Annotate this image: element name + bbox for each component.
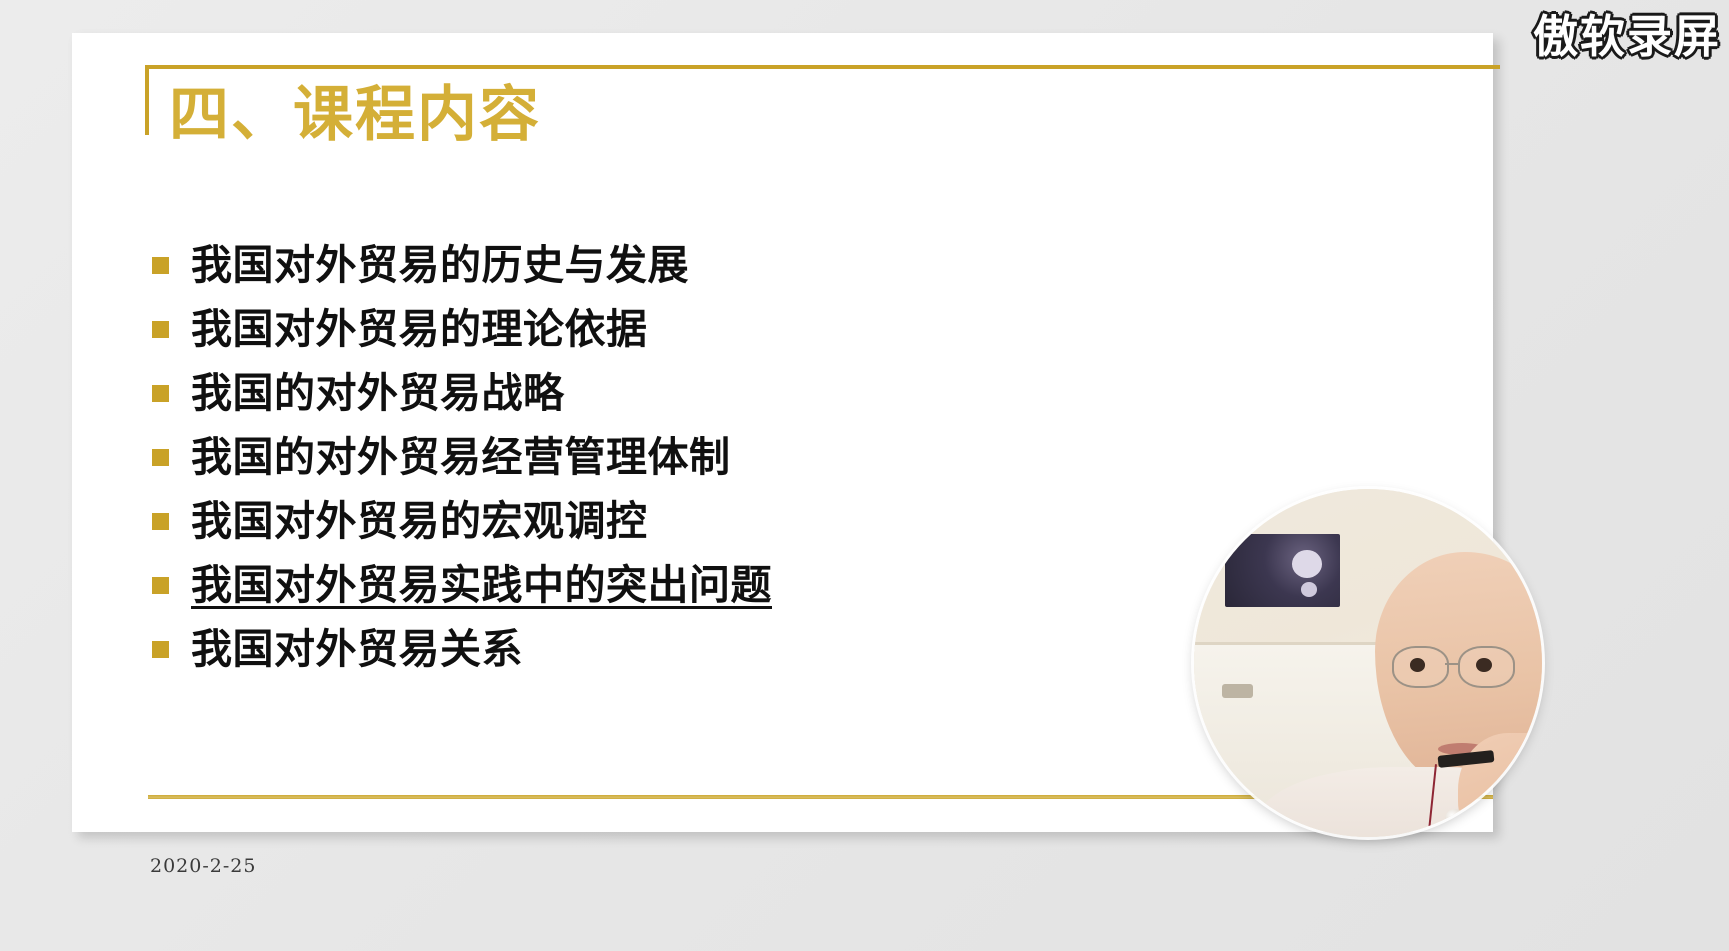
screen-recording-canvas: 四、课程内容 我国对外贸易的历史与发展 我国对外贸易的理论依据 我国的对外贸易战…	[0, 0, 1729, 951]
list-item: 我国的对外贸易战略	[152, 361, 1352, 425]
presenter-eye-left	[1410, 658, 1426, 672]
list-item: 我国的对外贸易经营管理体制	[152, 425, 1352, 489]
title-bracket-top-rule	[145, 65, 1500, 69]
bullet-square-icon	[152, 641, 169, 658]
slide-date: 2020-2-25	[150, 855, 256, 877]
bullet-square-icon	[152, 385, 169, 402]
bullet-square-icon	[152, 513, 169, 530]
list-item: 我国对外贸易的历史与发展	[152, 233, 1352, 297]
presenter-glasses-bridge	[1445, 663, 1459, 665]
list-item-label: 我国对外贸易关系	[191, 629, 523, 670]
slide-title-block: 四、课程内容	[145, 65, 705, 185]
list-item-label: 我国的对外贸易经营管理体制	[191, 437, 731, 478]
bullet-list: 我国对外贸易的历史与发展 我国对外贸易的理论依据 我国的对外贸易战略 我国的对外…	[152, 233, 1352, 681]
list-item-label: 我国的对外贸易战略	[191, 373, 565, 414]
list-item-label: 我国对外贸易实践中的突出问题	[191, 565, 772, 606]
poster-moon-small-shape	[1301, 582, 1317, 597]
list-item: 我国对外贸易关系	[152, 617, 1352, 681]
list-item: 我国对外贸易的理论依据	[152, 297, 1352, 361]
page-title: 四、课程内容	[169, 81, 541, 150]
webcam-background-poster	[1225, 534, 1340, 607]
list-item-label: 我国对外贸易的理论依据	[191, 309, 648, 350]
list-item: 我国对外贸易的宏观调控	[152, 489, 1352, 553]
bullet-square-icon	[152, 257, 169, 274]
list-item-label: 我国对外贸易的历史与发展	[191, 245, 689, 286]
title-bracket-left-rule	[145, 65, 149, 135]
poster-moon-shape	[1292, 550, 1322, 578]
bullet-square-icon	[152, 577, 169, 594]
bullet-square-icon	[152, 449, 169, 466]
list-item-highlighted: 我国对外贸易实践中的突出问题	[152, 553, 1352, 617]
presenter-webcam-overlay[interactable]	[1194, 489, 1542, 837]
presenter-eye-right	[1476, 658, 1492, 672]
recorder-watermark: 傲软录屏	[1533, 14, 1721, 59]
list-item-label: 我国对外贸易的宏观调控	[191, 501, 648, 542]
webcam-background-handle	[1222, 684, 1253, 698]
bullet-square-icon	[152, 321, 169, 338]
